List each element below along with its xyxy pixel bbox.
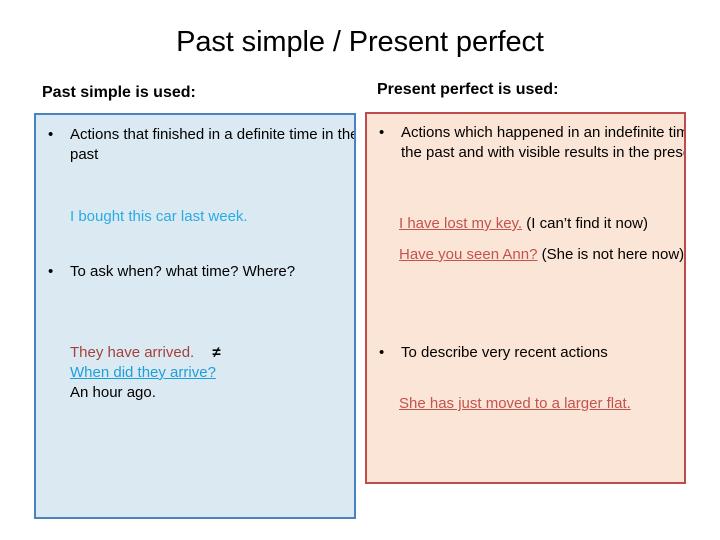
left-column-heading: Past simple is used: [42, 83, 196, 102]
example-sentence-seen-ann: Have you seen Ann? [399, 246, 537, 263]
example-gap [399, 234, 685, 245]
example-line: An hour ago. [70, 383, 356, 403]
list-item-label: Actions that finished in a definite time… [70, 125, 356, 165]
list-item-label: To ask when? what time? Where? [70, 262, 356, 282]
example-line: They have arrived. ≠ [70, 343, 356, 363]
example-block: I bought this car last week. [70, 207, 356, 227]
list-item-label: Actions which happened in an indefinite … [401, 123, 686, 163]
slide-title: Past simple / Present perfect [0, 26, 720, 59]
bullet-glyph-icon: • [48, 262, 53, 282]
list-item: • Actions that finished in a definite ti… [36, 125, 356, 165]
example-sentence-when-did-they-arrive: When did they arrive? [70, 364, 216, 381]
example-block: They have arrived. ≠ When did they arriv… [70, 343, 356, 402]
example-note-lost-my-key: (I can’t find it now) [522, 215, 648, 232]
not-equal-icon: ≠ [198, 344, 220, 361]
past-simple-panel: • Actions that finished in a definite ti… [34, 113, 356, 519]
list-item: • To ask when? what time? Where? [36, 262, 356, 282]
example-line: When did they arrive? [70, 363, 356, 383]
example-sentence-moved-to-larger-flat: She has just moved to a larger flat. [399, 395, 631, 412]
bullet-glyph-icon: • [379, 343, 384, 363]
example-sentence-an-hour-ago: An hour ago. [70, 384, 156, 401]
example-block: She has just moved to a larger flat. [399, 394, 681, 414]
bullet-glyph-icon: • [48, 125, 53, 145]
list-item: • To describe very recent actions [367, 343, 686, 363]
example-sentence-lost-my-key: I have lost my key. [399, 215, 522, 232]
bullet-glyph-icon: • [379, 123, 384, 143]
list-item: • Actions which happened in an indefinit… [367, 123, 686, 163]
example-line: I have lost my key. (I can’t find it now… [399, 214, 685, 234]
example-sentence-they-have-arrived: They have arrived. [70, 344, 194, 361]
example-line: Have you seen Ann? (She is not here now) [399, 245, 685, 265]
right-column-heading: Present perfect is used: [377, 80, 558, 99]
list-item-label: To describe very recent actions [401, 343, 686, 363]
example-block: I have lost my key. (I can’t find it now… [399, 214, 685, 265]
example-note-seen-ann: (She is not here now) [537, 246, 684, 263]
present-perfect-panel: • Actions which happened in an indefinit… [365, 112, 686, 484]
example-sentence-bought: I bought this car last week. [70, 208, 248, 225]
